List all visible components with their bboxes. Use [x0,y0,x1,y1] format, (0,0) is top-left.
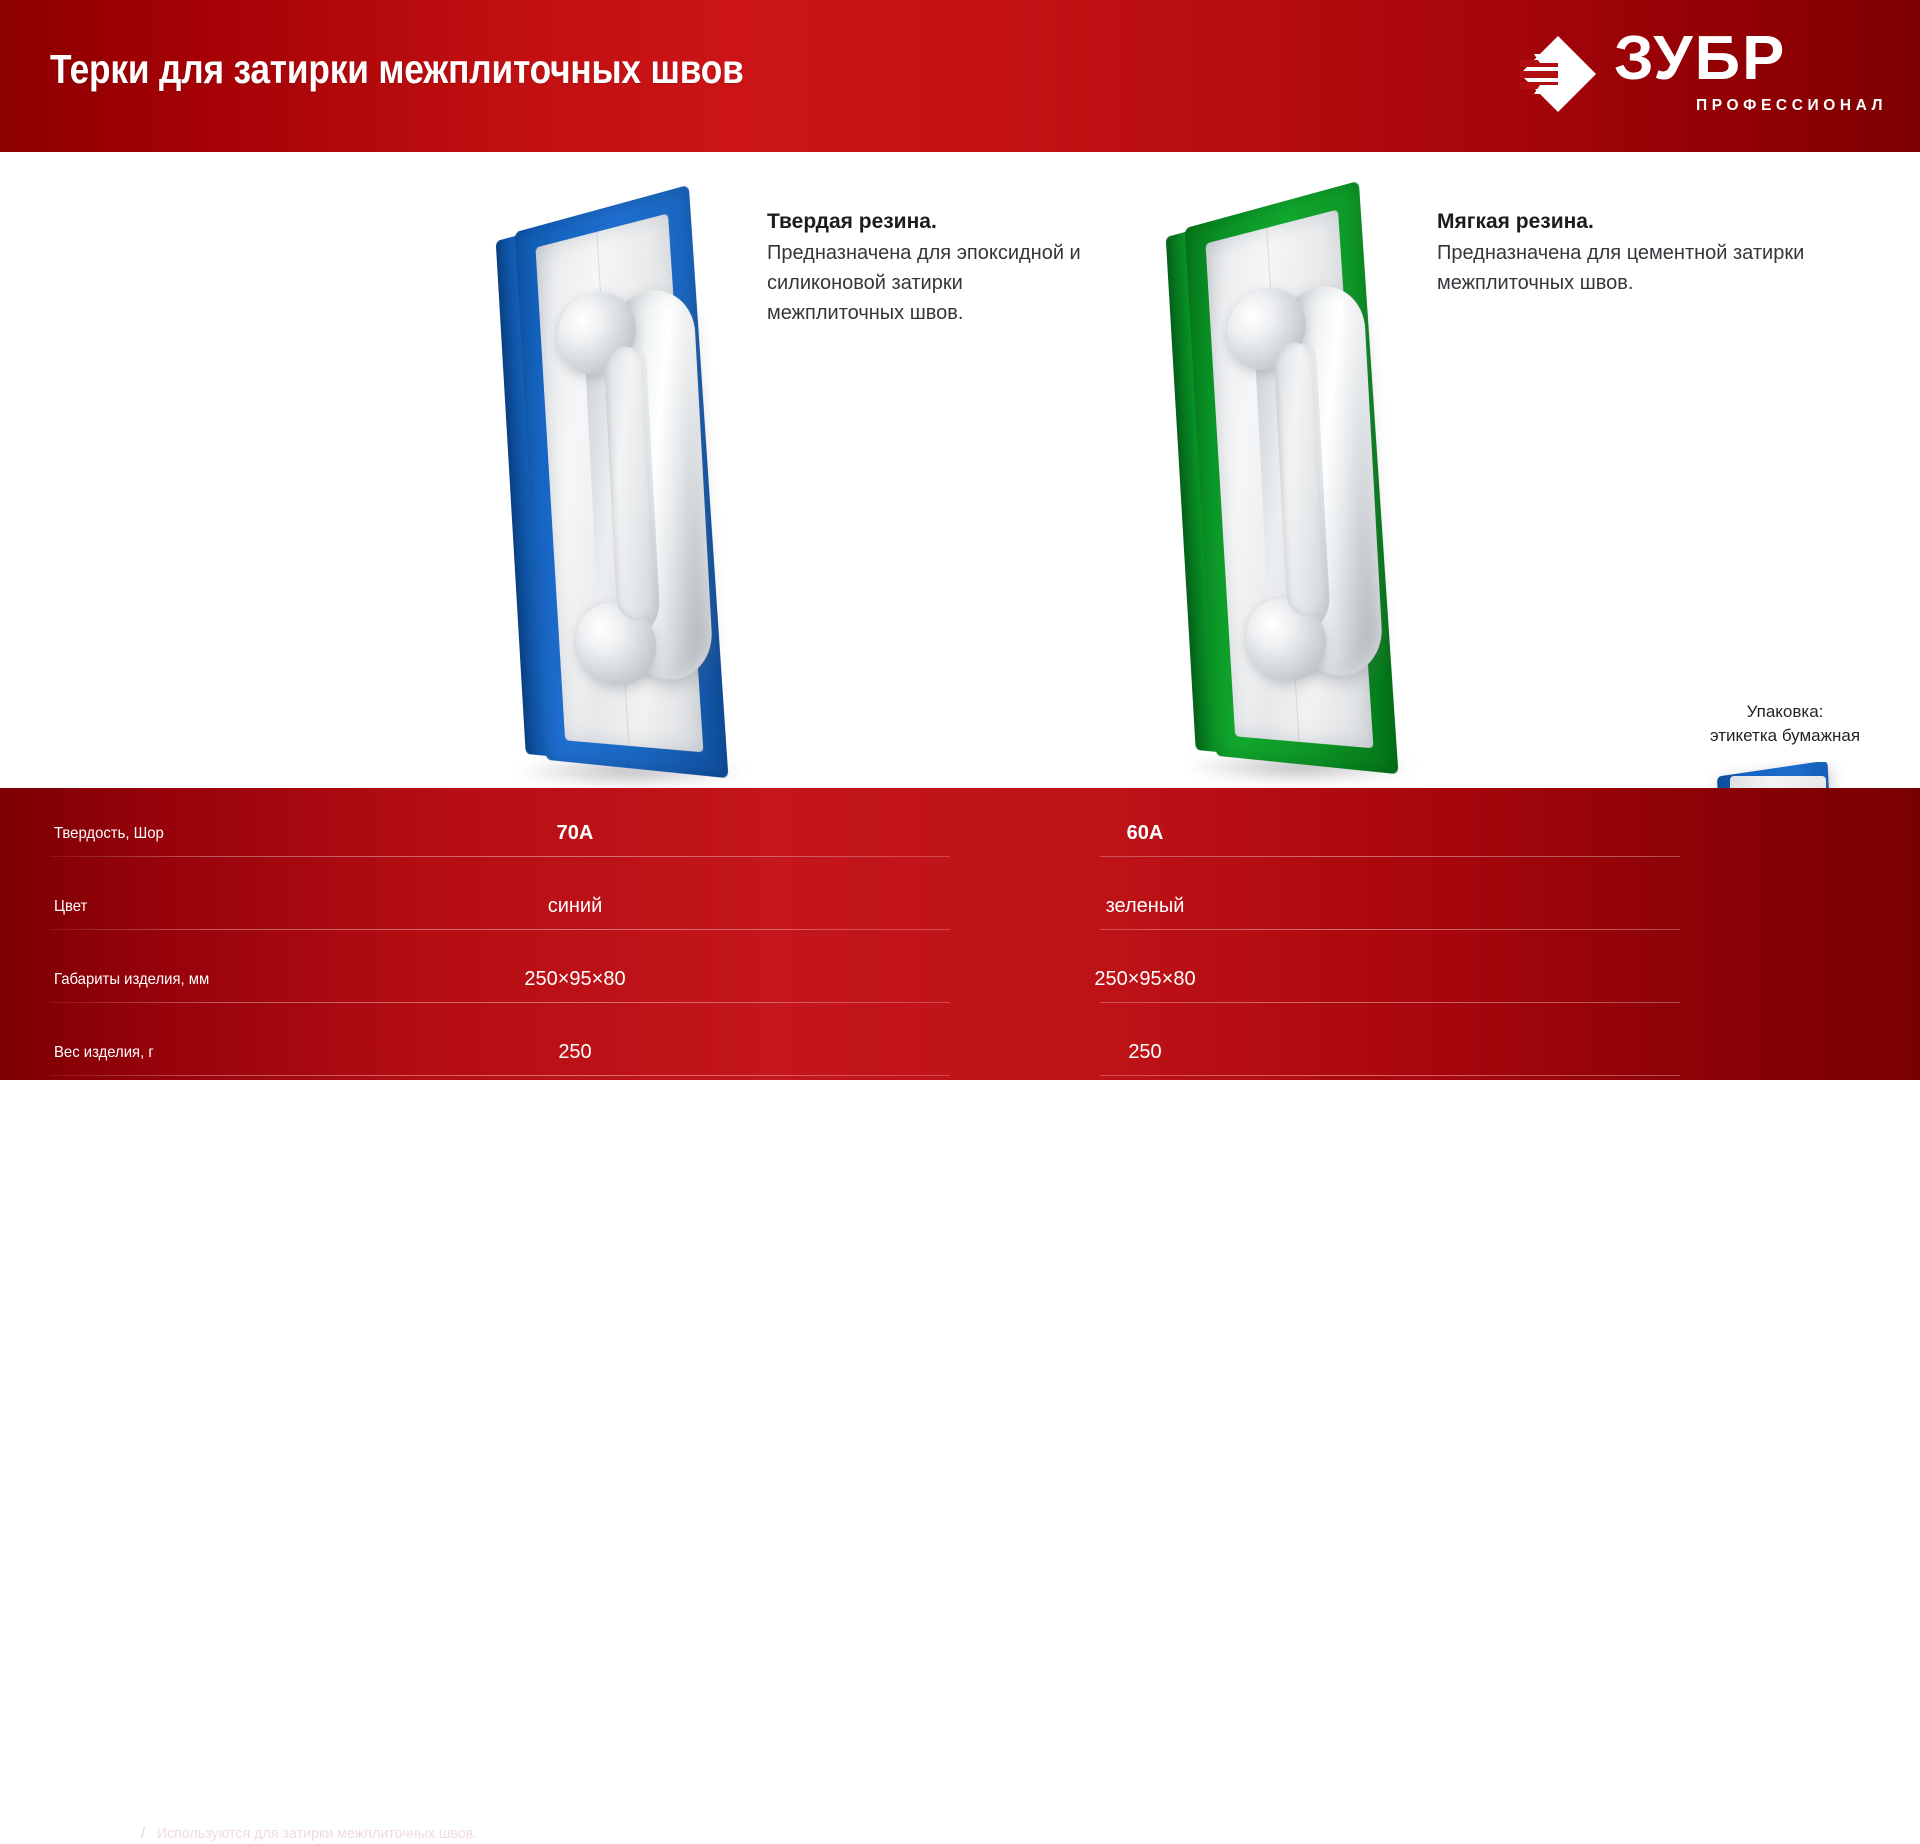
spec-value-hard: 70A [430,811,720,856]
page-title: Терки для затирки межплиточных швов [50,46,744,93]
row-divider-right [1100,1148,1680,1149]
product-image-hard [498,196,788,796]
spec-value-soft: 250×95×80 [1000,957,1290,1002]
footer-separator: / [134,1825,153,1842]
brand-logo: ЗУБР ПРОФЕССИОНАЛ [1518,26,1872,126]
spec-value-soft: 60A [1000,811,1290,856]
spec-row-label: Вес изделия, г [54,1030,154,1075]
spec-row-label: Цвет [54,884,87,929]
packaging-caption: Упаковка: этикетка бумажная [1650,700,1920,748]
spec-value-hard: 250×95×80 [430,957,720,1002]
row-divider-right [1100,1075,1680,1076]
spec-value-soft: 0817-2 [1000,1103,1290,1148]
description-title: Твердая резина. [767,207,1097,237]
description-soft: Мягкая резина. Предназначена для цементн… [1437,207,1817,298]
row-divider-left [50,1148,950,1149]
spec-row-label: Артикул [54,1103,109,1148]
footer: www.zubr.ru / Используются для затирки м… [52,1824,477,1844]
float-handle [554,270,745,688]
packaging-caption-line1: Упаковка: [1650,700,1920,724]
logo-tagline: ПРОФЕССИОНАЛ [1696,98,1887,114]
row-divider-left [50,1002,950,1003]
row-divider-right [1100,929,1680,930]
row-divider-left [50,929,950,930]
table-row: Твердость, Шор70A60A [0,811,1920,856]
spec-value-soft: зеленый [1000,884,1290,929]
table-row: Габариты изделия, мм250×95×80250×95×80 [0,957,1920,1002]
description-title: Мягкая резина. [1437,207,1817,237]
description-body: Предназначена для цементной затирки межп… [1437,238,1817,298]
logo-wordmark: ЗУБР [1614,26,1786,92]
product-stage: Твердая резина. Предназначена для эпокси… [0,152,1920,788]
spec-row-label: Твердость, Шор [54,811,164,856]
packaging-caption-line2: этикетка бумажная [1650,724,1920,748]
footer-site[interactable]: www.zubr.ru [52,1825,130,1842]
description-hard: Твердая резина. Предназначена для эпокси… [767,207,1097,328]
row-divider-left [50,856,950,857]
row-divider-right [1100,856,1680,857]
spec-value-hard: 0817-1 [430,1103,720,1148]
spec-row-label: Габариты изделия, мм [54,957,209,1002]
row-divider-left [50,1075,950,1076]
footer-text: Используются для затирки межплиточных шв… [157,1825,477,1842]
float-handle [1224,266,1415,684]
page-header: Терки для затирки межплиточных швов ЗУБР… [0,0,1920,152]
table-row: Цветсинийзеленый [0,884,1920,929]
zubr-diamond-icon [1518,34,1598,114]
spec-band: Твердость, Шор70A60AЦветсинийзеленыйГаба… [0,788,1920,1080]
spec-value-soft: 250 [1000,1030,1290,1075]
description-body: Предназначена для эпоксидной и силиконов… [767,238,1097,328]
table-row: Вес изделия, г250250 [0,1030,1920,1075]
spec-value-hard: 250 [430,1030,720,1075]
row-divider-right [1100,1002,1680,1003]
spec-value-hard: синий [430,884,720,929]
product-image-soft [1168,192,1458,792]
table-row: Артикул0817-10817-2 [0,1103,1920,1148]
